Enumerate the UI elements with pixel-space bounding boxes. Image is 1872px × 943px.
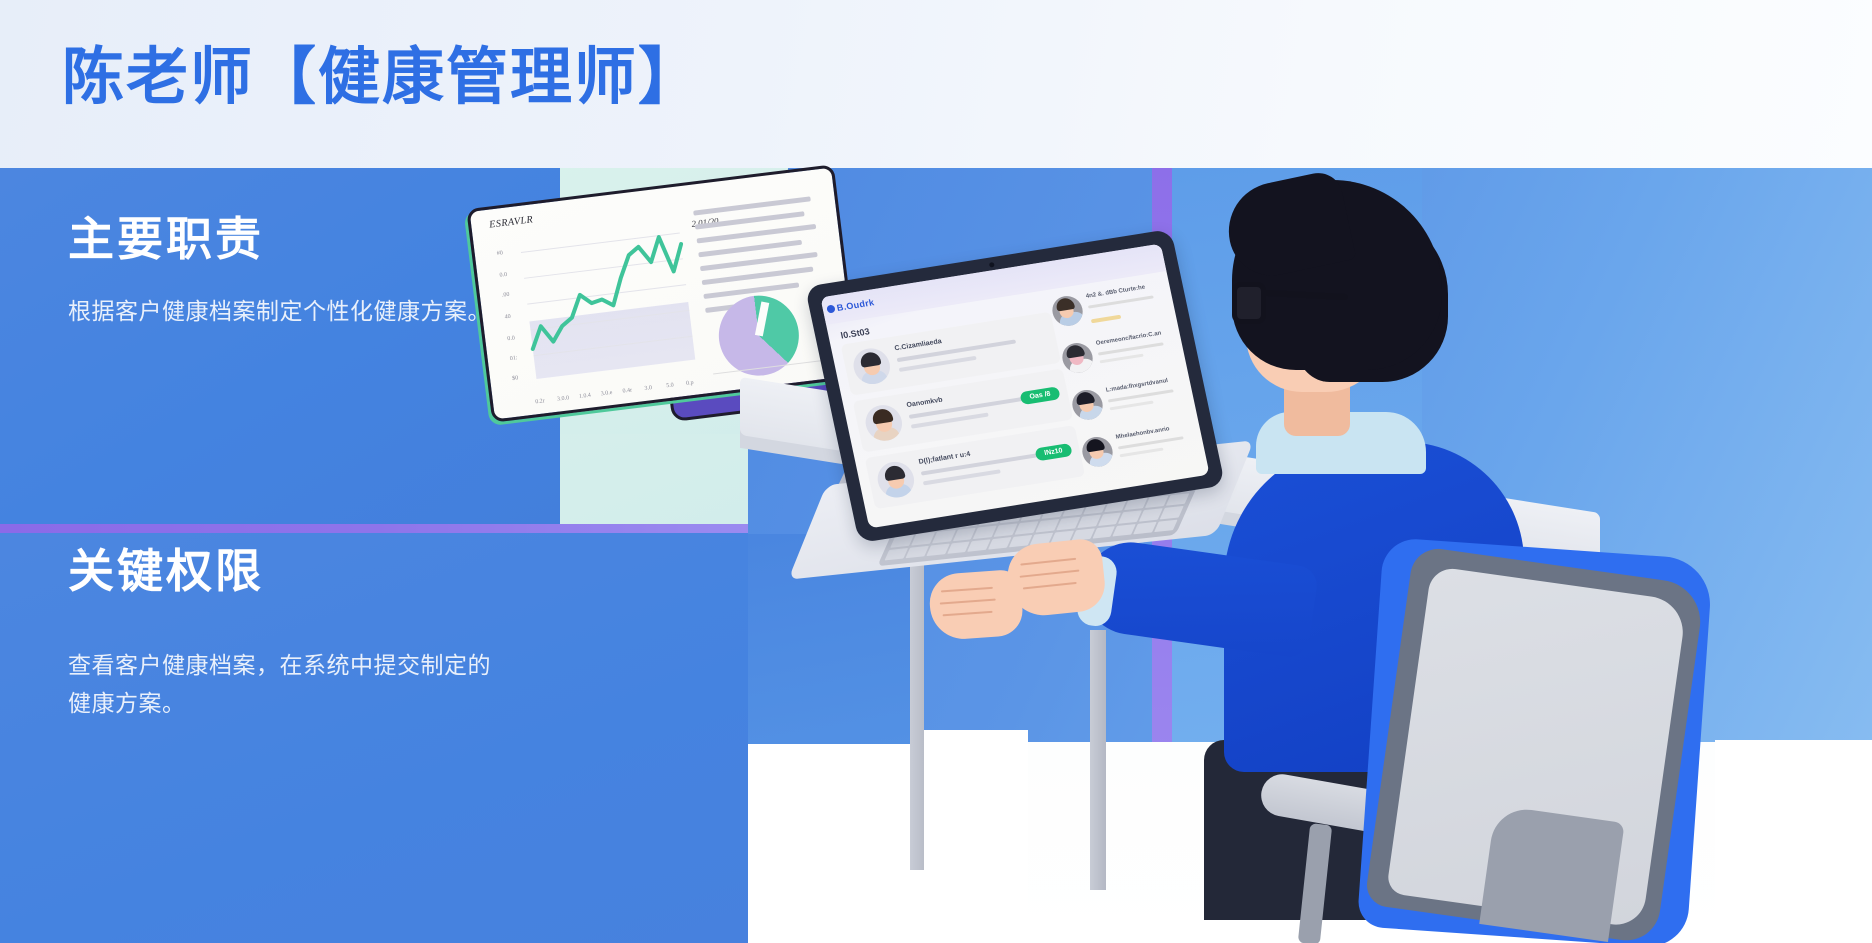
chair-lumbar-support [1479, 805, 1624, 942]
bottom-right-white-block [1715, 740, 1872, 943]
illustration-banner: 陈老师【健康管理师】 主要职责 根据客户健康档案制定个性化健康方案。 关键权限 … [0, 0, 1872, 943]
avatar [862, 403, 905, 444]
section-permissions: 关键权限 查看客户健康档案，在系统中提交制定的健康方案。 [68, 540, 498, 723]
avatar [874, 459, 917, 500]
action-button[interactable]: Oas /8 [1019, 386, 1060, 405]
desk-leg [1090, 630, 1106, 890]
chart-xtick: 3.0 [644, 385, 652, 392]
section-body: 查看客户健康档案，在系统中提交制定的健康方案。 [68, 647, 498, 723]
avatar [1050, 294, 1086, 328]
glasses-lens-icon [1232, 282, 1266, 324]
client-list: C.Cizamliaeda Oanomkvb Oas /8 [841, 312, 1087, 515]
chart-xtick: 0.p [686, 380, 694, 387]
section-heading: 关键权限 [68, 544, 498, 599]
list-section-title: l0.St03 [840, 326, 871, 340]
chart-xtick: 0.4r [622, 388, 632, 395]
page-title: 陈老师【健康管理师】 [62, 44, 702, 112]
chart-xtick: 1.0.4 [579, 393, 592, 400]
avatar [1070, 388, 1106, 422]
avatar [1060, 341, 1096, 375]
document-front-page: ESRAVLR 2.01/20 #0 0.0 .00 40 0.0 01: $0 [466, 164, 859, 422]
list-item-name: C.Cizamliaeda [894, 338, 942, 352]
chart-xtick: 3.0.e [600, 390, 612, 397]
list-item-name: Oanomkvb [906, 397, 943, 410]
app-logo-label: B.Oudrk [836, 297, 875, 313]
chart-line-path [502, 226, 699, 395]
app-logo-icon [826, 304, 836, 313]
header-band: 陈老师【健康管理师】 [0, 0, 1872, 168]
floor-left [748, 730, 1028, 943]
section-body: 根据客户健康档案制定个性化健康方案。 [68, 293, 498, 331]
chart-xtick: 5.0 [666, 382, 674, 389]
list-item-name: D(l);fatlant r u:4 [918, 451, 971, 466]
action-button[interactable]: lNz10 [1034, 443, 1073, 461]
chart-xtick: 3.0.0 [557, 395, 570, 402]
line-chart: #0 0.0 .00 40 0.0 01: $0 0.2r 3.0.0 1.0.… [502, 226, 699, 395]
avatar [850, 346, 893, 387]
section-heading: 主要职责 [68, 212, 498, 267]
chart-xtick: 0.2r [535, 398, 545, 405]
laptop-screen-content: B.Oudrk l0.St03 C.Cizamliaeda [820, 244, 1209, 529]
person-hand [928, 569, 1024, 641]
desk-leg [910, 560, 924, 870]
section-responsibilities: 主要职责 根据客户健康档案制定个性化健康方案。 [68, 212, 498, 331]
webcam-icon [989, 262, 995, 268]
avatar [1080, 435, 1116, 469]
chair-frame [1357, 537, 1713, 943]
